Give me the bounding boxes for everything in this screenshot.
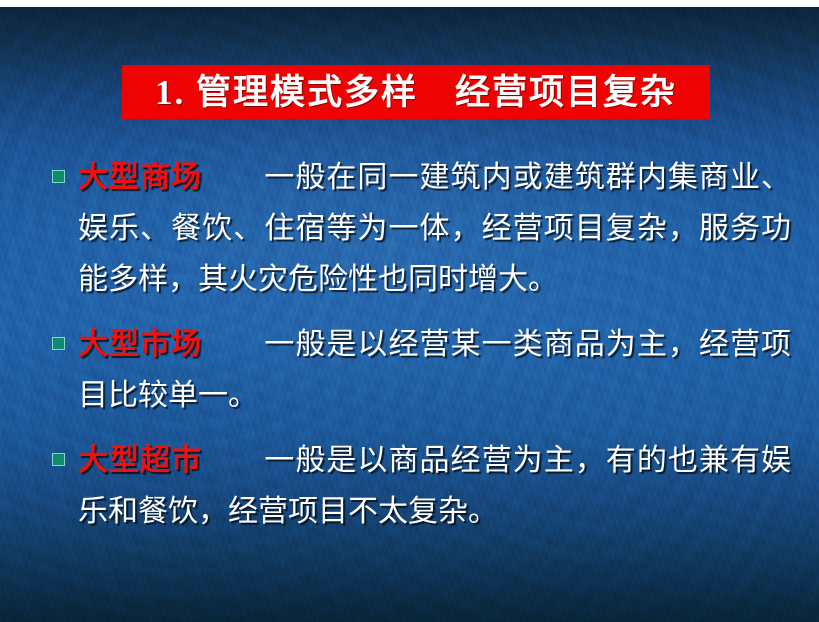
square-bullet-icon	[52, 453, 65, 466]
bullet-list: 大型商场 一般在同一建筑内或建筑群内集商业、娱乐、餐饮、住宿等为一体，经营项目复…	[0, 152, 819, 551]
square-bullet-icon	[52, 170, 65, 183]
title-banner: 1. 管理模式多样 经营项目复杂	[122, 65, 710, 119]
list-item-gap	[202, 328, 264, 361]
list-item-text: 大型超市 一般是以商品经营为主，有的也兼有娱乐和餐饮，经营项目不太复杂。	[78, 435, 791, 537]
list-item-keyword: 大型商场	[78, 161, 202, 194]
list-item: 大型商场 一般在同一建筑内或建筑群内集商业、娱乐、餐饮、住宿等为一体，经营项目复…	[0, 152, 819, 305]
list-item-keyword: 大型超市	[78, 444, 202, 477]
page-title: 1. 管理模式多样 经营项目复杂	[155, 75, 677, 110]
top-white-margin	[0, 0, 819, 7]
list-item-keyword: 大型市场	[78, 328, 202, 361]
list-item: 大型市场 一般是以经营某一类商品为主，经营项目比较单一。	[0, 319, 819, 421]
list-item: 大型超市 一般是以商品经营为主，有的也兼有娱乐和餐饮，经营项目不太复杂。	[0, 435, 819, 537]
list-item-gap	[202, 161, 264, 194]
list-item-gap	[202, 444, 264, 477]
square-bullet-icon	[52, 337, 65, 350]
list-item-text: 大型市场 一般是以经营某一类商品为主，经营项目比较单一。	[78, 319, 791, 421]
list-item-text: 大型商场 一般在同一建筑内或建筑群内集商业、娱乐、餐饮、住宿等为一体，经营项目复…	[78, 152, 791, 305]
presentation-slide: 1. 管理模式多样 经营项目复杂 大型商场 一般在同一建筑内或建筑群内集商业、娱…	[0, 0, 819, 622]
